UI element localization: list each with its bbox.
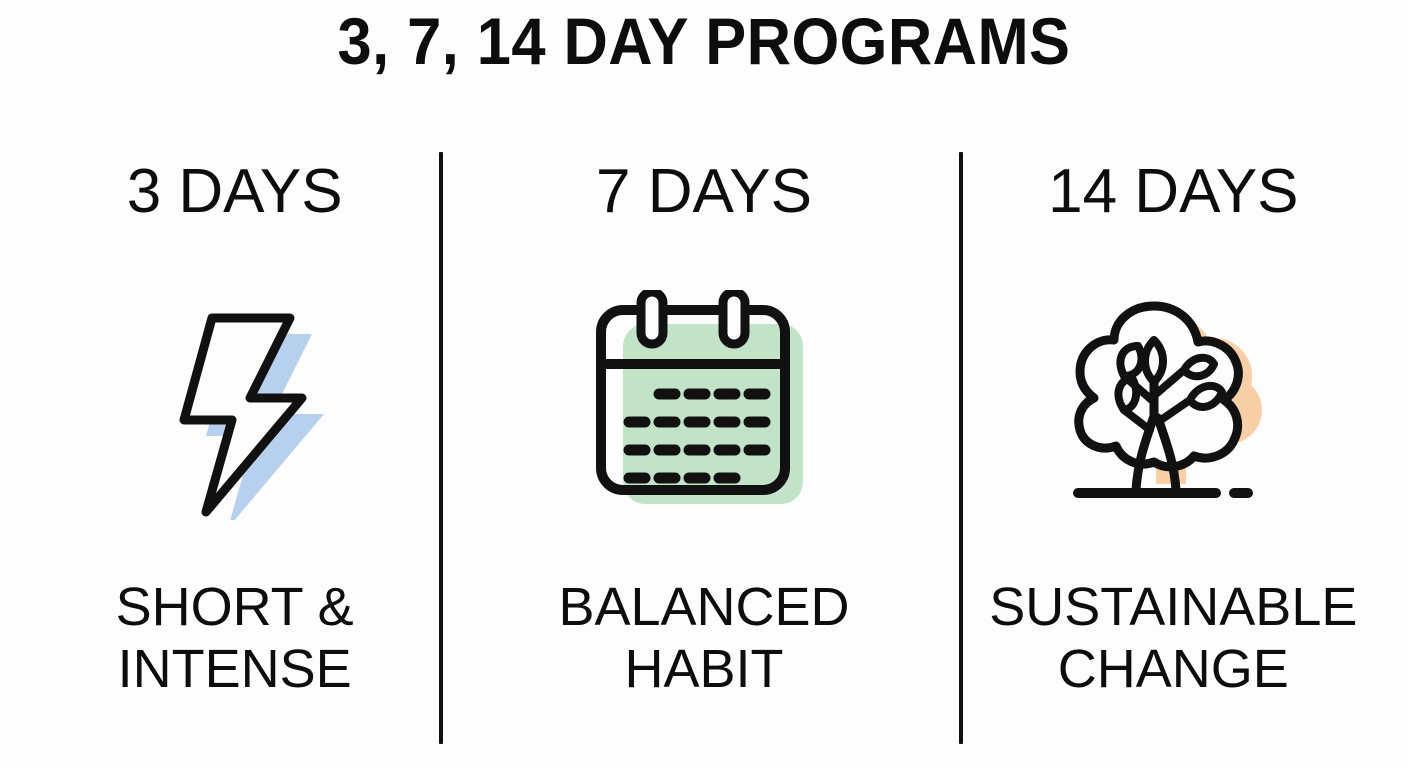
program-caption-7-day: BALANCED HABIT	[558, 576, 849, 700]
program-card-14-day: 14 DAYS	[939, 148, 1408, 748]
tree-icon	[1058, 290, 1288, 520]
program-card-7-day: 7 DAYS	[469, 148, 938, 748]
page-title: 3, 7, 14 DAY PROGRAMS	[49, 2, 1358, 80]
caption-line-1: BALANCED	[558, 576, 849, 638]
caption-line-1: SHORT &	[116, 576, 354, 638]
program-heading-3-day: 3 DAYS	[127, 156, 343, 228]
infographic-poster: 3, 7, 14 DAY PROGRAMS 3 DAYS SHORT & INT…	[0, 0, 1408, 768]
caption-line-2: CHANGE	[989, 638, 1357, 700]
program-heading-14-day: 14 DAYS	[1048, 156, 1298, 228]
program-card-3-day: 3 DAYS SHORT & INTENSE	[0, 148, 469, 748]
lightning-bolt-icon	[140, 290, 330, 520]
calendar-icon	[589, 290, 819, 520]
program-caption-14-day: SUSTAINABLE CHANGE	[989, 576, 1357, 700]
program-columns: 3 DAYS SHORT & INTENSE 7 DAYS	[0, 148, 1408, 748]
program-caption-3-day: SHORT & INTENSE	[116, 576, 354, 700]
program-heading-7-day: 7 DAYS	[596, 156, 812, 228]
caption-line-2: HABIT	[558, 638, 849, 700]
caption-line-2: INTENSE	[116, 638, 354, 700]
caption-line-1: SUSTAINABLE	[989, 576, 1357, 638]
